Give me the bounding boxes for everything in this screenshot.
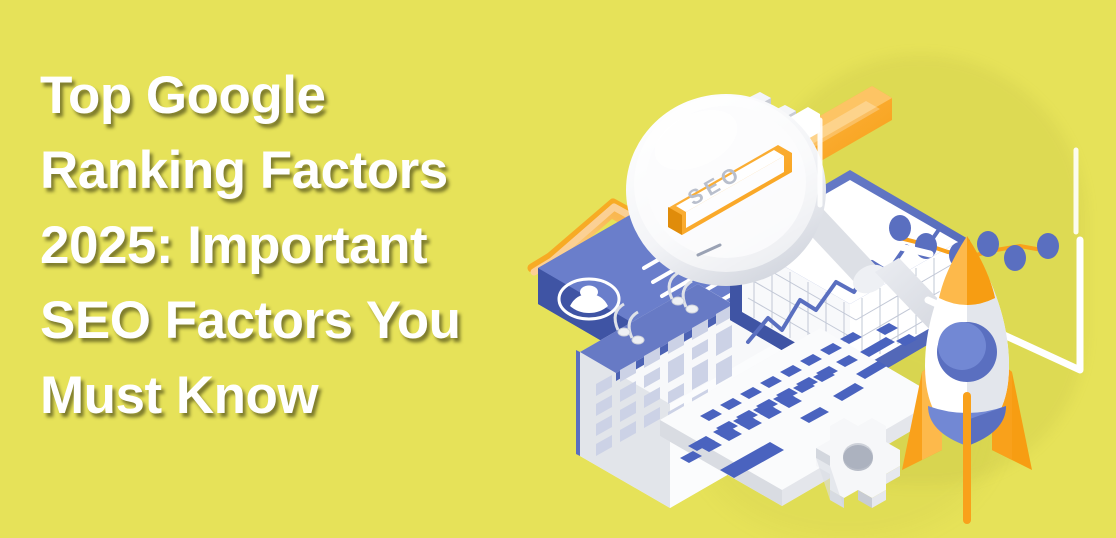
headline-line-5: Must Know	[40, 358, 560, 433]
headline-line-4: SEO Factors You	[40, 283, 560, 358]
headline-line-3: 2025: Important	[40, 208, 560, 283]
illustration: SEO	[520, 0, 1116, 538]
seo-blog-banner: Top Google Ranking Factors 2025: Importa…	[0, 0, 1116, 538]
headline-line-1: Top Google	[40, 58, 560, 133]
headline-line-2: Ranking Factors	[40, 133, 560, 208]
headline-block: Top Google Ranking Factors 2025: Importa…	[40, 58, 560, 433]
